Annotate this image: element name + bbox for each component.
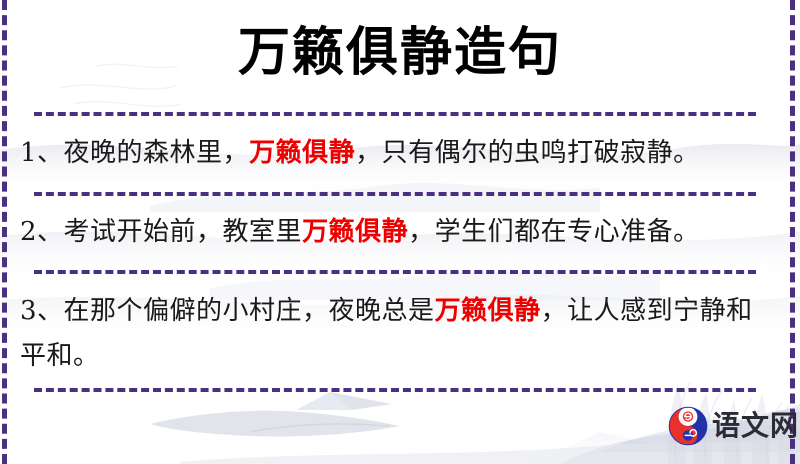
site-logo[interactable]: 语文网 xyxy=(668,406,799,446)
yinyang-circle-icon xyxy=(668,406,708,446)
separator-1 xyxy=(34,192,756,196)
sentence-3-before: 在那个偏僻的小村庄，夜晚总是 xyxy=(64,296,435,326)
site-logo-text: 语文网 xyxy=(712,406,799,446)
page-root: 万籁俱静造句 1、夜晚的森林里，万籁俱静，只有偶尔的虫鸣打破寂静。 2、考试开始… xyxy=(0,0,800,464)
sentence-1-after: ，只有偶尔的虫鸣打破寂静。 xyxy=(355,138,700,168)
sentence-1-keyword: 万籁俱静 xyxy=(249,138,355,168)
sentence-2-before: 考试开始前，教室里 xyxy=(64,217,303,247)
frame-border-left xyxy=(2,0,7,464)
sentence-2-index: 2、 xyxy=(20,217,64,247)
sentence-row-2: 2、考试开始前，教室里万籁俱静，学生们都在专心准备。 xyxy=(20,210,776,255)
sentence-1-index: 1、 xyxy=(20,138,64,168)
sentence-3-keyword: 万籁俱静 xyxy=(435,296,541,326)
sentence-2-after: ，学生们都在专心准备。 xyxy=(408,217,700,247)
sentence-1-before: 夜晚的森林里， xyxy=(64,138,250,168)
page-title: 万籁俱静造句 xyxy=(0,18,800,88)
separator-bottom xyxy=(34,388,756,392)
sentence-2-keyword: 万籁俱静 xyxy=(302,217,408,247)
separator-2 xyxy=(34,270,756,274)
separator-top xyxy=(34,112,756,116)
sentence-3-index: 3、 xyxy=(20,296,64,326)
frame-border-right xyxy=(790,0,795,464)
sentence-row-3: 3、在那个偏僻的小村庄，夜晚总是万籁俱静，让人感到宁静和平和。 xyxy=(20,289,776,379)
sentence-row-1: 1、夜晚的森林里，万籁俱静，只有偶尔的虫鸣打破寂静。 xyxy=(20,131,776,176)
